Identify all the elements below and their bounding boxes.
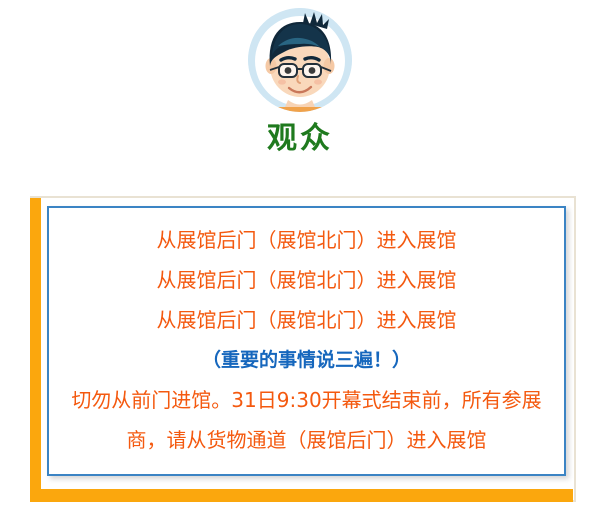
notice-line: 从展馆后门（展馆北门）进入展馆 (63, 220, 550, 260)
notice-accent-bar-left (30, 198, 41, 502)
notice-emphasis-line: （重要的事情说三遍！） (63, 340, 550, 380)
notice-line: 商，请从货物通道（展馆后门）进入展馆 (63, 420, 550, 460)
avatar (248, 8, 352, 112)
cartoon-face-with-glasses-icon (248, 8, 352, 112)
notice-accent-bar-bottom (30, 489, 573, 502)
notice-box: 从展馆后门（展馆北门）进入展馆 从展馆后门（展馆北门）进入展馆 从展馆后门（展馆… (30, 196, 576, 502)
notice-content-panel: 从展馆后门（展馆北门）进入展馆 从展馆后门（展馆北门）进入展馆 从展馆后门（展馆… (47, 206, 566, 476)
notice-line: 从展馆后门（展馆北门）进入展馆 (63, 300, 550, 340)
notice-line: 切勿从前门进馆。31日9:30开幕式结束前，所有参展 (63, 380, 550, 420)
notice-line: 从展馆后门（展馆北门）进入展馆 (63, 260, 550, 300)
profile-header: 观众 (0, 0, 600, 157)
page-title: 观众 (267, 122, 333, 157)
